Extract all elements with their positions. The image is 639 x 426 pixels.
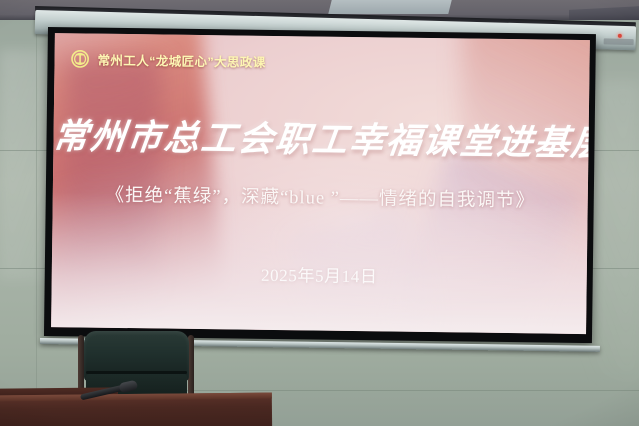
slide-kicker-text: 常州工人“龙城匠心”大思政课	[97, 50, 265, 71]
slide-kicker: 常州工人“龙城匠心”大思政课	[70, 49, 265, 71]
chinese-trade-union-emblem-icon	[70, 49, 89, 68]
slide-date: 2025年5月14日	[52, 258, 587, 290]
roller-brand-label	[604, 38, 634, 45]
podium-table	[0, 393, 272, 426]
slide-content: 常州工人“龙城匠心”大思政课 常州市总工会职工幸福课堂进基层 《拒绝“蕉绿”，深…	[51, 33, 590, 334]
slide-subtitle: 《拒绝“蕉绿”，深藏“blue ”——情绪的自我调节》	[53, 180, 588, 213]
power-led-icon	[618, 34, 622, 38]
screen-surface: 常州工人“龙城匠心”大思政课 常州市总工会职工幸福课堂进基层 《拒绝“蕉绿”，深…	[51, 33, 590, 334]
lecture-room-photo: 常州工人“龙城匠心”大思政课 常州市总工会职工幸福课堂进基层 《拒绝“蕉绿”，深…	[0, 0, 639, 426]
projection-screen: 常州工人“龙城匠心”大思政课 常州市总工会职工幸福课堂进基层 《拒绝“蕉绿”，深…	[44, 27, 596, 343]
slide-main-title: 常州市总工会职工幸福课堂进基层	[51, 108, 590, 166]
wall-panel-seam-vertical	[36, 20, 37, 426]
ceiling-light-panel	[328, 0, 451, 14]
